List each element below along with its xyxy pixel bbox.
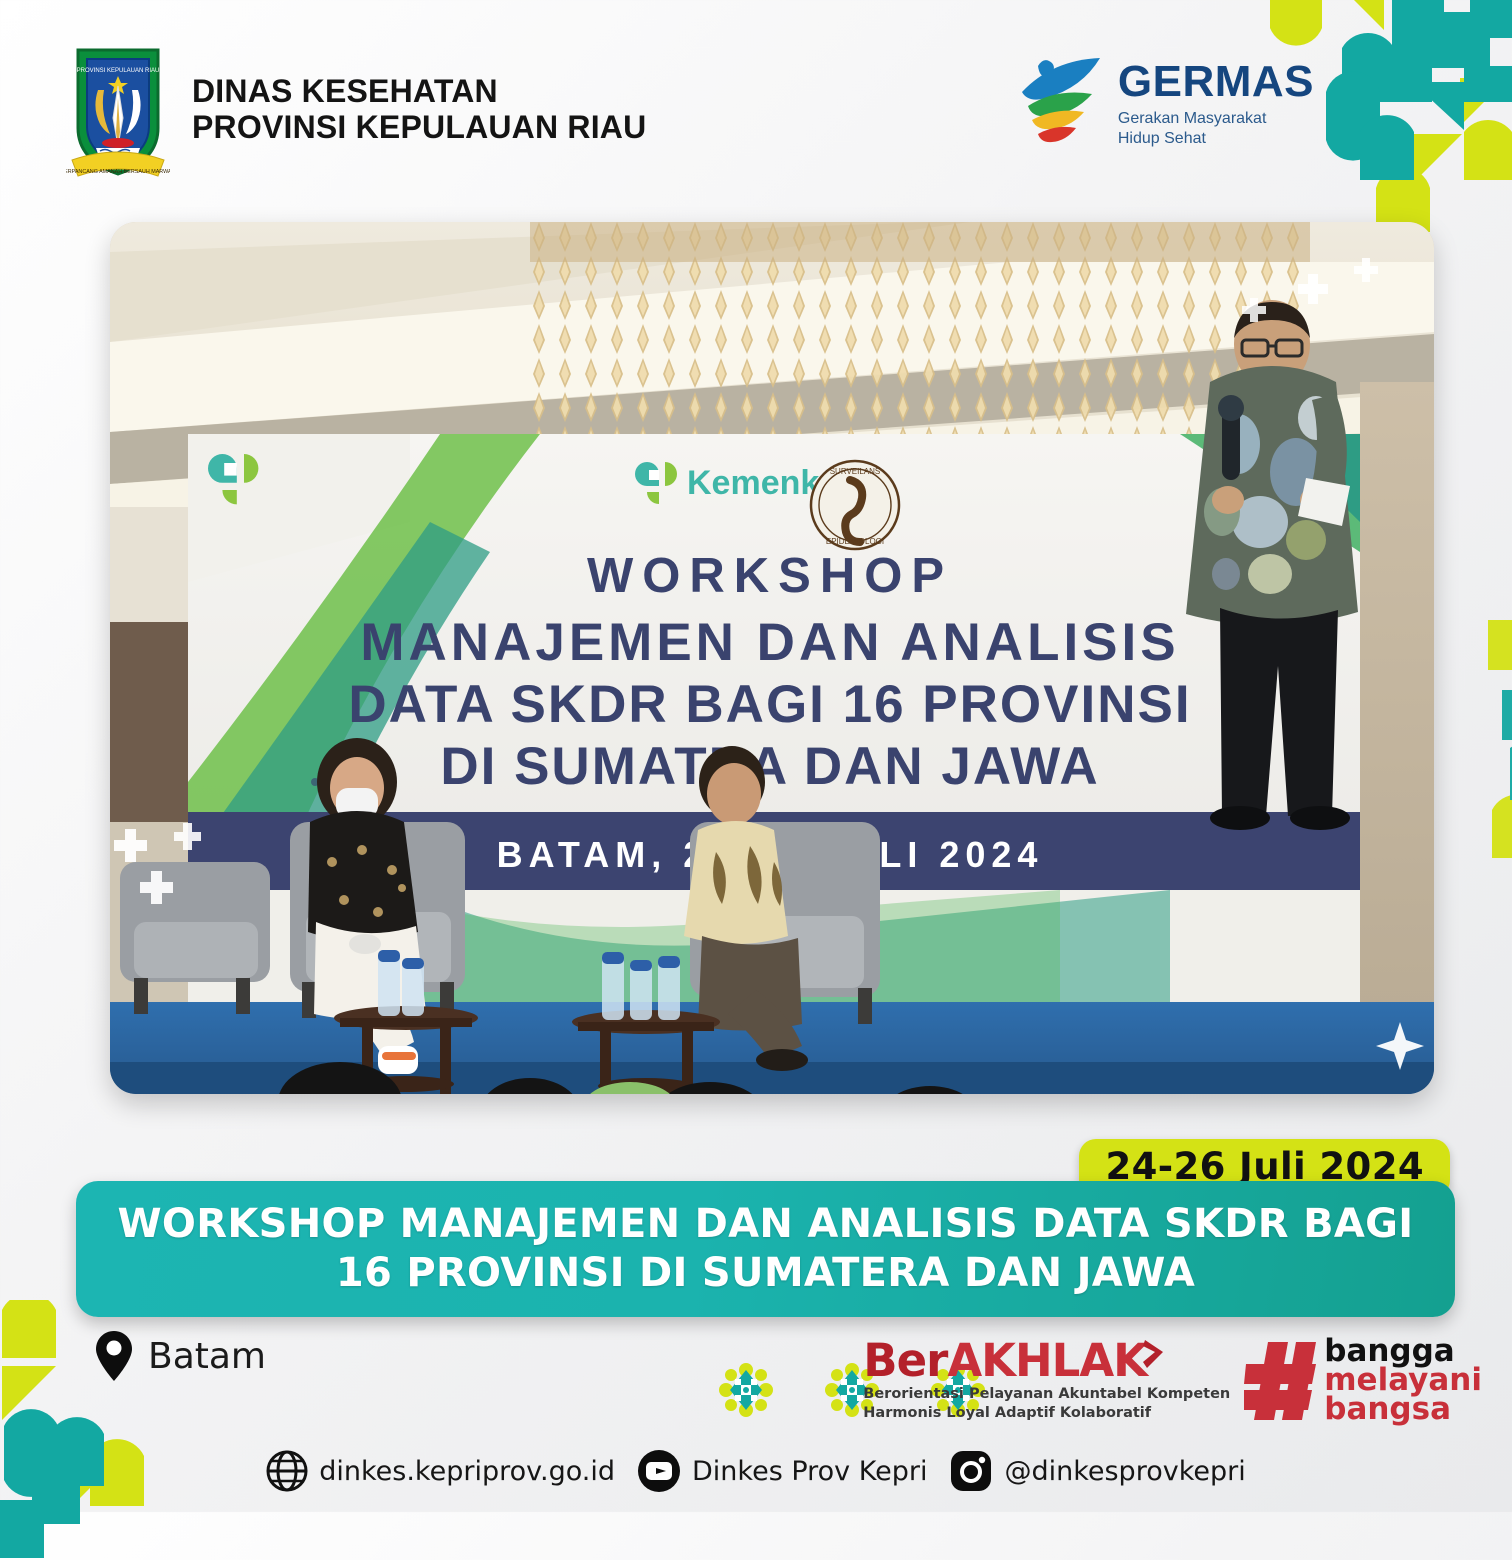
map-pin-icon <box>96 1331 132 1381</box>
germas-logo: GERMAS Gerakan Masyarakat Hidup Sehat <box>1016 56 1314 152</box>
bangga-melayani-bangsa-logo: bangga melayani bangsa <box>1244 1337 1482 1424</box>
org-name-line2: PROVINSI KEPULAUAN RIAU <box>192 110 646 146</box>
organization-header: PROVINSI KEPULAUAN RIAU BERPANCANG AMANA… <box>66 40 646 180</box>
footer-website-label: dinkes.kepriprov.go.id <box>319 1456 615 1487</box>
footer-youtube-label: Dinkes Prov Kepri <box>692 1456 927 1487</box>
footer-website[interactable]: dinkes.kepriprov.go.id <box>266 1450 615 1492</box>
svg-text:SURVEILANS: SURVEILANS <box>830 467 881 476</box>
footer-youtube[interactable]: Dinkes Prov Kepri <box>637 1449 927 1493</box>
berakhlak-logo: BerAKHLAK Berorientasi Pelayanan Akuntab… <box>863 1338 1230 1423</box>
germas-figure-icon <box>1016 56 1108 152</box>
event-location: Batam <box>96 1331 266 1381</box>
svg-text:EPIDEMIOLOGI: EPIDEMIOLOGI <box>826 537 884 546</box>
footer-instagram-label: @dinkesprovkepri <box>1004 1456 1245 1487</box>
instagram-icon <box>949 1449 993 1493</box>
hashtag-icon <box>1244 1338 1318 1424</box>
footer-instagram[interactable]: @dinkesprovkepri <box>949 1449 1245 1493</box>
event-title-bar: WORKSHOP MANAJEMEN DAN ANALISIS DATA SKD… <box>76 1181 1455 1317</box>
riau-islands-province-crest-icon: PROVINSI KEPULAUAN RIAU BERPANCANG AMANA… <box>66 40 170 180</box>
svg-text:WORKSHOP: WORKSHOP <box>587 549 953 603</box>
event-photo: Kemenkes SURVEILANS EPIDEMIOLOGI WORKSHO… <box>110 222 1434 1094</box>
berakhlak-tagline-line2: Harmonis Loyal Adaptif Kolaboratif <box>863 1404 1230 1423</box>
social-footer: dinkes.kepriprov.go.id Dinkes Prov Kepri… <box>0 1449 1512 1493</box>
svg-text:PROVINSI KEPULAUAN RIAU: PROVINSI KEPULAUAN RIAU <box>77 68 160 74</box>
bangga-line3: bangsa <box>1324 1395 1482 1424</box>
germas-title: GERMAS <box>1118 60 1314 104</box>
berakhlak-suffix: AKHLAK <box>947 1334 1147 1387</box>
songket-motif-icon <box>718 1362 774 1418</box>
svg-text:DI SUMATRA DAN JAWA: DI SUMATRA DAN JAWA <box>440 737 1099 796</box>
germas-subtitle-line2: Hidup Sehat <box>1118 129 1314 149</box>
event-title: WORKSHOP MANAJEMEN DAN ANALISIS DATA SKD… <box>112 1200 1419 1298</box>
org-name-line1: DINAS KESEHATAN <box>192 74 646 110</box>
event-location-label: Batam <box>148 1336 266 1377</box>
svg-text:DATA SKDR BAGI 16 PROVINSI: DATA SKDR BAGI 16 PROVINSI <box>348 675 1191 734</box>
youtube-icon <box>637 1449 681 1493</box>
germas-subtitle-line1: Gerakan Masyarakat <box>1118 109 1314 129</box>
svg-text:MANAJEMEN DAN ANALISIS: MANAJEMEN DAN ANALISIS <box>360 613 1179 672</box>
svg-text:BERPANCANG AMANAH BERSAUH MARW: BERPANCANG AMANAH BERSAUH MARWAH <box>66 169 170 175</box>
globe-icon <box>266 1450 308 1492</box>
chevron-right-icon <box>1143 1338 1169 1372</box>
berakhlak-tagline-line1: Berorientasi Pelayanan Akuntabel Kompete… <box>863 1385 1230 1404</box>
government-brand-logos: BerAKHLAK Berorientasi Pelayanan Akuntab… <box>863 1337 1482 1424</box>
berakhlak-prefix: Ber <box>863 1334 947 1387</box>
